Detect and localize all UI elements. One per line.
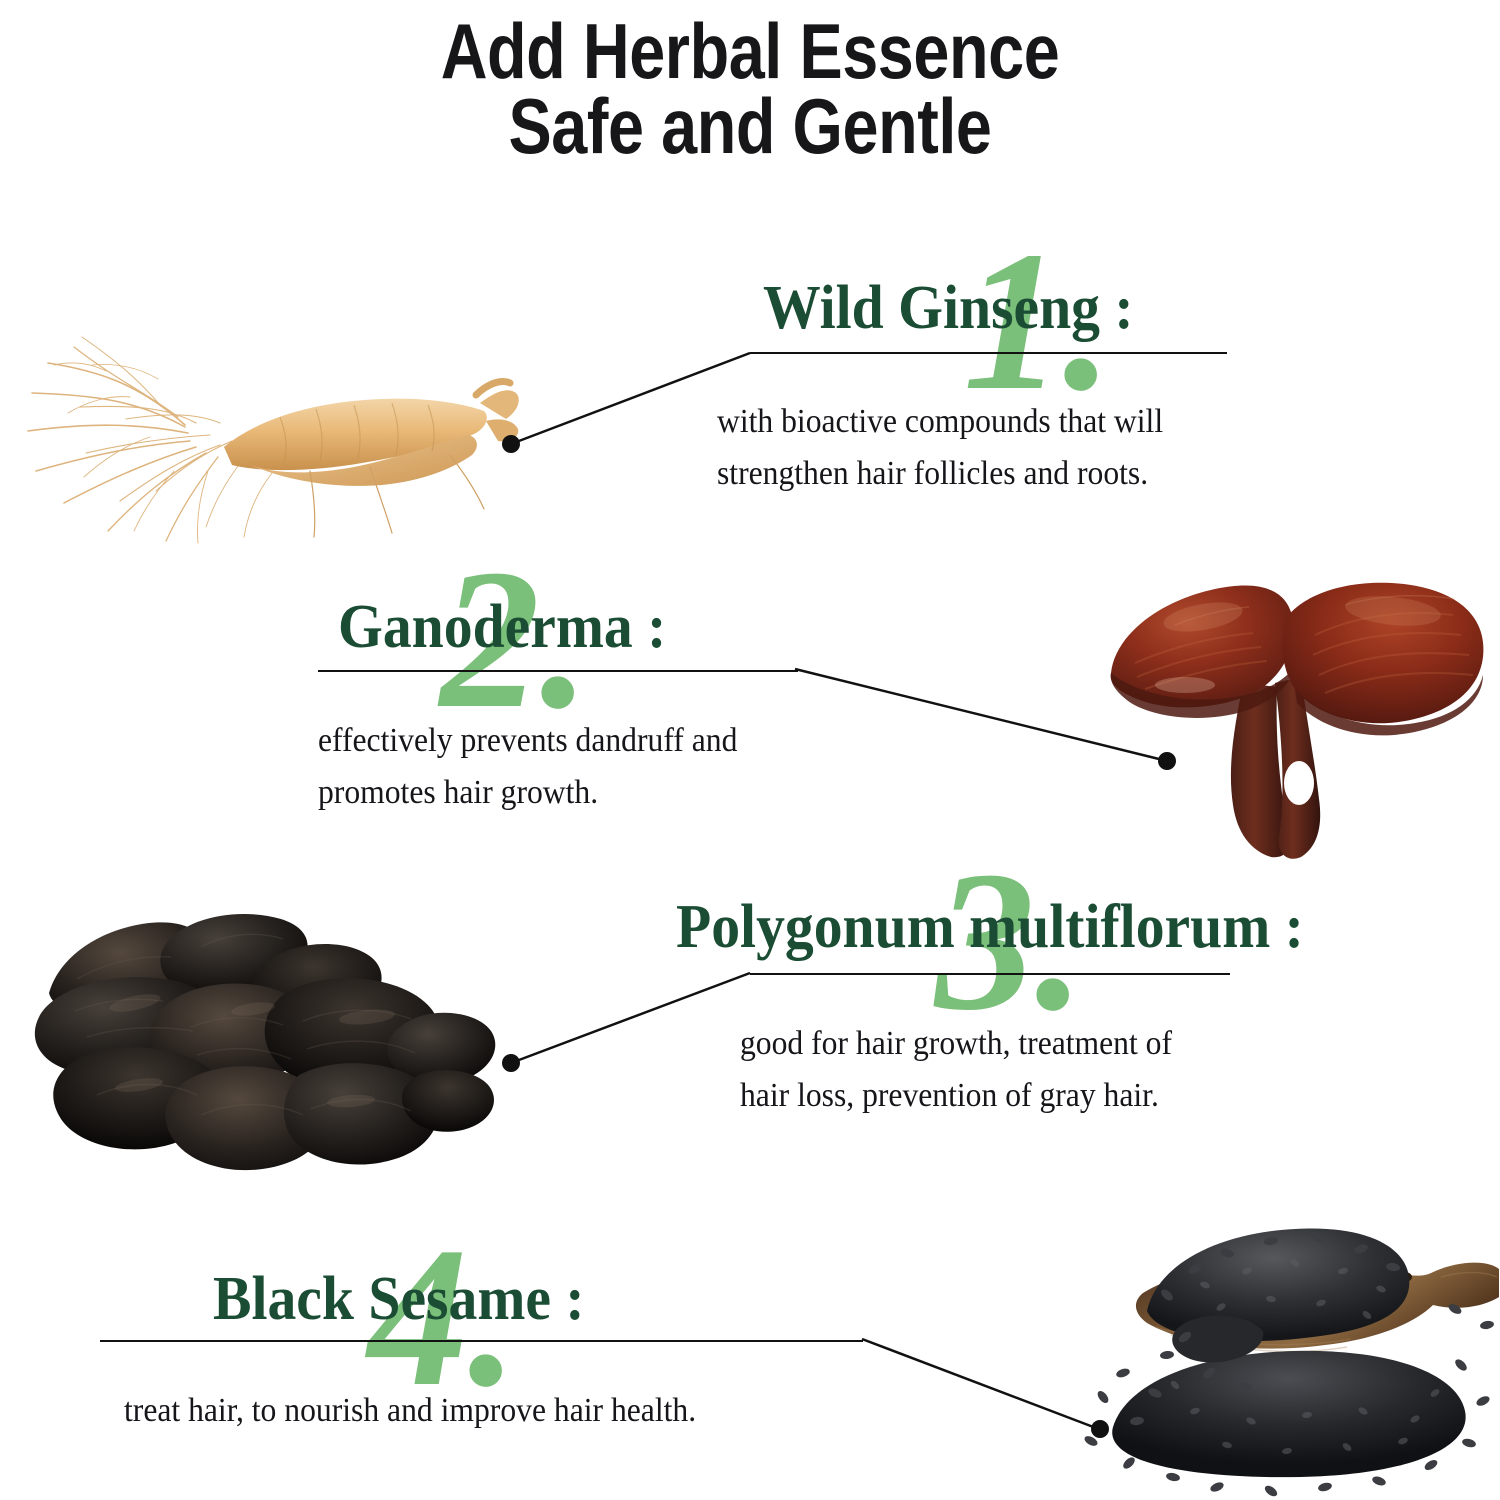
section-rule-3 (750, 973, 1230, 975)
section-heading-4: Black Sesame : (213, 1268, 585, 1330)
infographic-canvas: Add Herbal Essence Safe and Gentle (0, 0, 1500, 1500)
section-rule-2 (318, 670, 798, 672)
section-body-1-line-2: strengthen hair follicles and roots. (717, 448, 1163, 500)
section-body-2-line-2: promotes hair growth. (318, 767, 737, 819)
leader-line-3 (495, 955, 775, 1085)
section-heading-3: Polygonum multiflorum : (676, 896, 1304, 958)
section-body-1: with bioactive compounds that will stren… (717, 396, 1163, 499)
section-body-3-line-1: good for hair growth, treatment of (740, 1018, 1172, 1070)
title-line-1: Add Herbal Essence (128, 14, 1373, 89)
leader-line-2 (785, 655, 1195, 790)
title-line-2: Safe and Gentle (128, 89, 1373, 164)
section-body-4-line-1: treat hair, to nourish and improve hair … (124, 1385, 696, 1437)
section-body-3-line-2: hair loss, prevention of gray hair. (740, 1070, 1172, 1122)
section-body-3: good for hair growth, treatment of hair … (740, 1018, 1172, 1121)
section-rule-4 (100, 1340, 863, 1342)
wild-ginseng-root-photo (10, 275, 530, 560)
leader-line-4 (850, 1325, 1120, 1450)
section-heading-2: Ganoderma : (338, 596, 666, 658)
section-body-2-line-1: effectively prevents dandruff and (318, 715, 737, 767)
section-body-4: treat hair, to nourish and improve hair … (124, 1385, 696, 1437)
leader-line-1 (495, 335, 775, 465)
section-body-1-line-1: with bioactive compounds that will (717, 396, 1163, 448)
section-rule-1 (750, 352, 1227, 354)
polygonum-multiflorum-slices-photo (15, 905, 520, 1200)
section-heading-1: Wild Ginseng : (763, 277, 1134, 339)
section-body-2: effectively prevents dandruff and promot… (318, 715, 737, 818)
page-title: Add Herbal Essence Safe and Gentle (0, 14, 1500, 164)
